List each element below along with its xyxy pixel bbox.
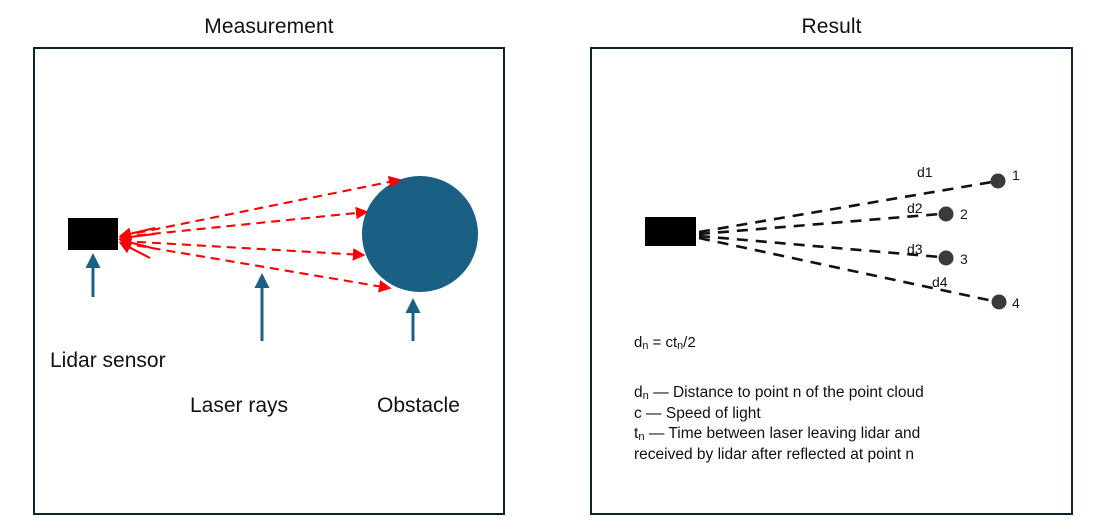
distance-label-d1: d1 [917,165,933,179]
point-index-label-2: 2 [960,207,968,221]
formula-tail: /2 [683,334,696,351]
formula-equals: = c [648,334,673,351]
label-obstacle: Obstacle [377,395,460,416]
legend-dash: — [645,425,669,442]
point-index-label-1: 1 [1012,168,1020,182]
legend-dash: — [649,384,673,401]
label-laser-rays: Laser rays [190,395,288,416]
legend-line: c — Speed of light [634,404,1064,425]
point-index-label-3: 3 [960,252,968,266]
legend-dash: — [642,405,666,422]
distance-formula: dn = ctn/2 [634,335,696,350]
point-index-label-4: 4 [1012,296,1020,310]
legend-text: Distance to point n of the point cloud [673,384,924,401]
legend-symbol-base: d [634,384,643,401]
legend-text: received by lidar after reflected at poi… [634,446,914,463]
legend-line: dn — Distance to point n of the point cl… [634,383,1064,404]
distance-label-d2: d2 [907,201,923,215]
panel-measurement [33,47,505,515]
distance-label-d3: d3 [907,242,923,256]
panel-title-measurement: Measurement [33,16,505,37]
panel-title-result: Result [590,16,1073,37]
legend-line: received by lidar after reflected at poi… [634,445,1064,466]
formula-legend: dn — Distance to point n of the point cl… [634,383,1064,465]
legend-text: Speed of light [666,405,761,422]
label-lidar-sensor: Lidar sensor [50,350,166,371]
distance-label-d4: d4 [932,275,948,289]
legend-line: tn — Time between laser leaving lidar an… [634,424,1064,445]
legend-text: Time between laser leaving lidar and [668,425,920,442]
diagram-stage: Measurement Result [0,0,1096,526]
legend-symbol-base: c [634,405,642,422]
